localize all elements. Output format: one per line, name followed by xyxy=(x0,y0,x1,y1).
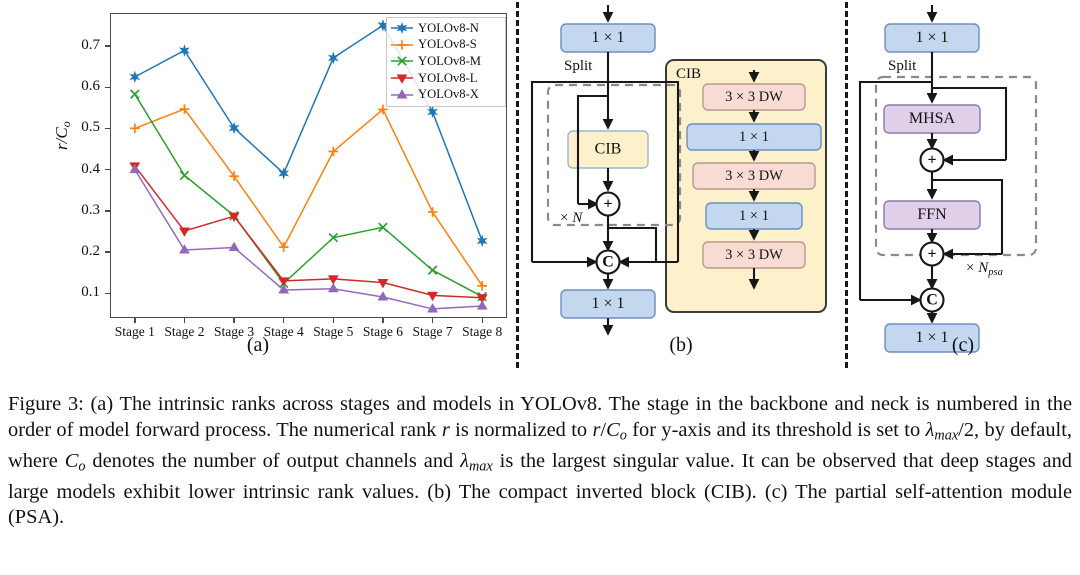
cib-diagram-svg: CIB3 × 3 DW1 × 13 × 3 DW1 × 13 × 3 DW1 ×… xyxy=(516,0,846,380)
svg-text:MHSA: MHSA xyxy=(909,110,956,127)
data-marker xyxy=(428,266,436,274)
chart-panel-a: r/Co YOLOv8-NYOLOv8-SYOLOv8-MYOLOv8-LYOL… xyxy=(0,0,516,380)
data-marker xyxy=(279,242,289,252)
chart-legend: YOLOv8-NYOLOv8-SYOLOv8-MYOLOv8-LYOLOv8-X xyxy=(386,17,506,107)
chart-series xyxy=(130,164,487,312)
y-tick-mark xyxy=(105,87,110,88)
data-marker xyxy=(329,53,338,64)
data-marker xyxy=(428,207,438,217)
cib-stack-block: 3 × 3 DW xyxy=(703,84,805,110)
legend-swatch xyxy=(389,37,415,53)
concat-node-c: C xyxy=(921,289,944,312)
chart-series xyxy=(130,104,487,290)
series-line xyxy=(135,94,482,296)
y-tick-label: 0.5 xyxy=(52,119,100,136)
svg-text:CIB: CIB xyxy=(595,141,622,158)
legend-item: YOLOv8-L xyxy=(389,70,501,87)
legend-item: YOLOv8-M xyxy=(389,53,501,70)
svg-text:1 × 1: 1 × 1 xyxy=(591,295,624,312)
svg-text:1 × 1: 1 × 1 xyxy=(591,29,624,46)
svg-text:1 × 1: 1 × 1 xyxy=(739,129,769,145)
diagram-panel-c: 1 × 1SplitMHSA+FFN+× NpsaC1 × 1 (c) xyxy=(846,0,1080,380)
legend-swatch xyxy=(389,70,415,86)
svg-text:+: + xyxy=(603,195,612,212)
data-marker xyxy=(428,107,437,118)
x-tick-mark xyxy=(134,318,135,323)
x-tick-mark xyxy=(233,318,234,323)
data-marker xyxy=(397,75,407,84)
data-marker xyxy=(179,228,189,237)
data-marker xyxy=(428,292,438,301)
sublabel-b: (b) xyxy=(516,334,846,357)
diagram-panel-b: CIB3 × 3 DW1 × 13 × 3 DW1 × 13 × 3 DW1 ×… xyxy=(516,0,846,380)
cib-stack-block: 3 × 3 DW xyxy=(693,163,815,189)
legend-item: YOLOv8-S xyxy=(389,37,501,54)
x-tick-mark xyxy=(184,318,185,323)
svg-text:3 × 3 DW: 3 × 3 DW xyxy=(725,89,783,105)
repeat-label-c: × Npsa xyxy=(966,260,1003,278)
sublabel-c: (c) xyxy=(846,334,1080,357)
svg-text:+: + xyxy=(927,151,936,168)
legend-label: YOLOv8-M xyxy=(415,54,481,69)
y-tick-label: 0.2 xyxy=(52,243,100,260)
legend-label: YOLOv8-N xyxy=(415,21,479,36)
legend-swatch xyxy=(389,53,415,69)
data-marker xyxy=(477,301,487,310)
data-marker xyxy=(328,283,338,292)
connector xyxy=(532,82,608,262)
data-marker xyxy=(477,281,487,291)
cib-stack-block: 1 × 1 xyxy=(687,124,821,150)
series-line xyxy=(135,170,482,309)
x-tick-mark xyxy=(283,318,284,323)
repeat-label-b: × N xyxy=(560,210,583,226)
add-node-b: + xyxy=(597,193,620,216)
figure-root: r/Co YOLOv8-NYOLOv8-SYOLOv8-MYOLOv8-LYOL… xyxy=(0,0,1080,575)
legend-label: YOLOv8-X xyxy=(415,87,479,102)
x-tick-mark xyxy=(432,318,433,323)
cib-stack-block: 1 × 1 xyxy=(706,203,802,229)
y-tick-mark xyxy=(105,210,110,211)
y-tick-label: 0.7 xyxy=(52,37,100,54)
y-tick-label: 0.4 xyxy=(52,161,100,178)
x-tick-mark xyxy=(333,318,334,323)
data-marker xyxy=(179,245,189,254)
legend-swatch xyxy=(389,20,415,36)
x-tick-mark xyxy=(382,318,383,323)
x-tick-label: Stage 8 xyxy=(442,324,522,340)
legend-swatch xyxy=(389,87,415,103)
svg-text:C: C xyxy=(926,291,938,308)
split-label-b: Split xyxy=(564,58,593,74)
block-bottom-conv: 1 × 1 xyxy=(561,290,655,318)
data-marker xyxy=(130,124,140,134)
block-cib: CIB xyxy=(568,131,648,168)
svg-text:C: C xyxy=(602,253,614,270)
cib-stack-block: 3 × 3 DW xyxy=(703,242,805,268)
data-marker xyxy=(131,90,139,98)
y-tick-mark xyxy=(105,293,110,294)
data-marker xyxy=(130,72,139,83)
y-tick-mark xyxy=(105,251,110,252)
svg-text:+: + xyxy=(927,245,936,262)
chart-series xyxy=(130,163,487,304)
data-marker xyxy=(397,40,407,50)
y-tick-label: 0.1 xyxy=(52,284,100,301)
block-mhsa: MHSA xyxy=(884,105,980,133)
block-top-conv-c: 1 × 1 xyxy=(885,24,979,52)
svg-text:3 × 3 DW: 3 × 3 DW xyxy=(725,168,783,184)
data-marker xyxy=(478,236,487,247)
data-marker xyxy=(229,242,239,251)
svg-text:1 × 1: 1 × 1 xyxy=(739,208,769,224)
legend-label: YOLOv8-L xyxy=(415,71,477,86)
y-tick-label: 0.6 xyxy=(52,78,100,95)
data-marker xyxy=(397,89,407,98)
psa-diagram-svg: 1 × 1SplitMHSA+FFN+× NpsaC1 × 1 xyxy=(846,0,1080,380)
block-ffn: FFN xyxy=(884,201,980,229)
cib-detail-title: CIB xyxy=(676,66,701,82)
block-top-conv: 1 × 1 xyxy=(561,24,655,52)
figure-caption: Figure 3: (a) The intrinsic ranks across… xyxy=(8,392,1072,531)
y-tick-mark xyxy=(105,169,110,170)
chart-series xyxy=(131,90,487,301)
y-tick-mark xyxy=(105,128,110,129)
add-node-c1: + xyxy=(921,149,944,172)
y-tick-mark xyxy=(105,45,110,46)
split-label-c: Split xyxy=(888,58,917,74)
series-line xyxy=(135,109,482,286)
svg-text:1 × 1: 1 × 1 xyxy=(915,29,948,46)
concat-node-b: C xyxy=(597,251,620,274)
data-marker xyxy=(180,171,188,179)
y-tick-label: 0.3 xyxy=(52,202,100,219)
svg-text:FFN: FFN xyxy=(917,206,947,223)
legend-label: YOLOv8-S xyxy=(415,37,477,52)
x-tick-mark xyxy=(482,318,483,323)
svg-text:3 × 3 DW: 3 × 3 DW xyxy=(725,247,783,263)
add-node-c2: + xyxy=(921,243,944,266)
legend-item: YOLOv8-N xyxy=(389,20,501,37)
legend-item: YOLOv8-X xyxy=(389,86,501,103)
